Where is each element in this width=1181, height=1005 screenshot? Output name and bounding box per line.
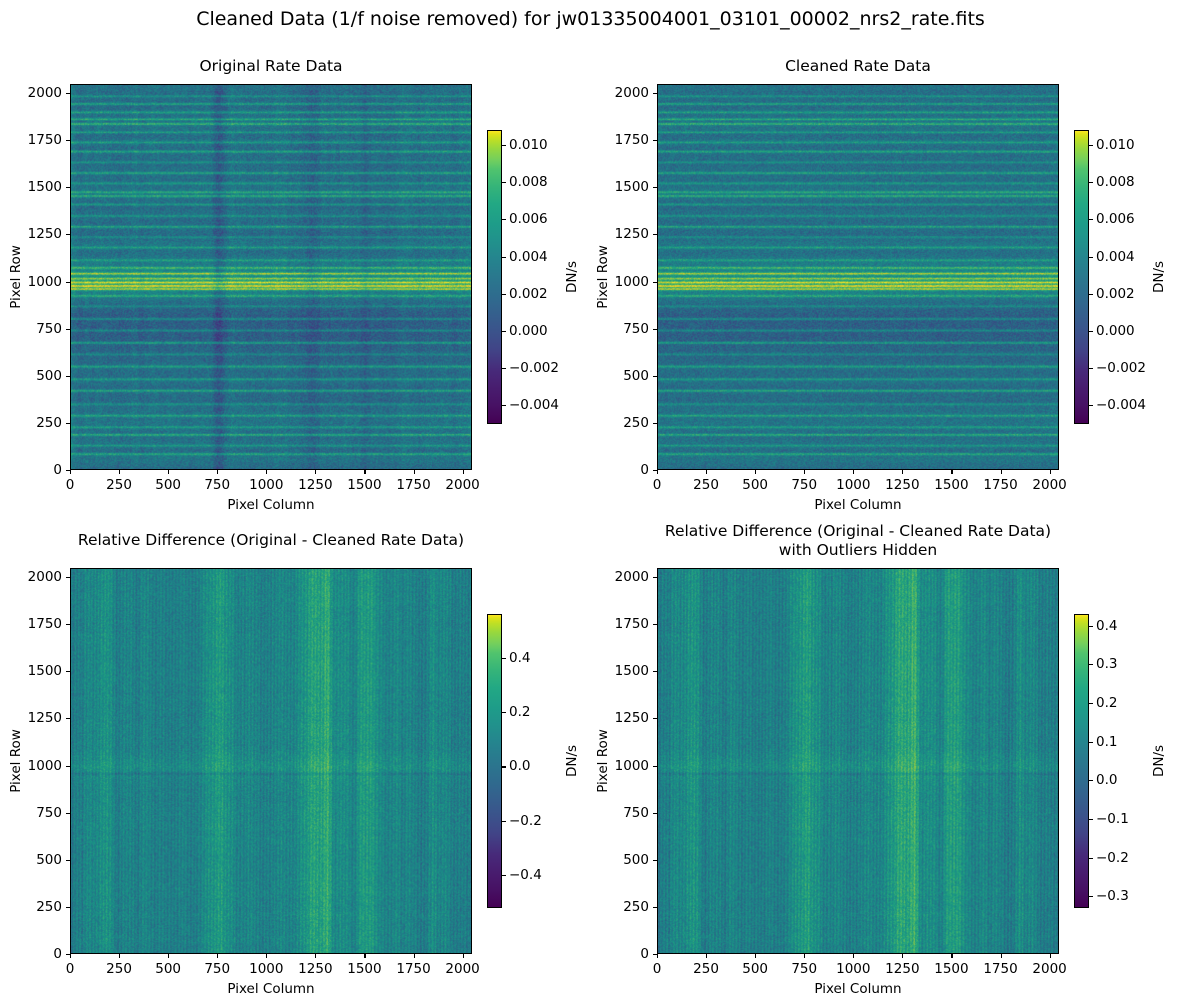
colorbar-tick-mark-1-1 [1089,182,1093,183]
ytick-mark-3-7 [653,624,657,625]
ytick-label-3-3: 750 [605,805,649,821]
xtick-label-3-8: 2000 [1032,961,1066,977]
colorbar-tick-label-0-1: 0.008 [509,174,548,190]
xtick-mark-3-8 [1050,954,1051,958]
ytick-label-1-1: 250 [605,415,649,431]
ytick-mark-0-5 [66,234,70,235]
colorbar-tick-label-3-3: 0.1 [1096,734,1117,750]
xtick-label-1-2: 500 [742,477,768,493]
heatmap-image-original [71,85,471,469]
colorbar-tick-mark-2-1 [502,712,506,713]
figure-suptitle: Cleaned Data (1/f noise removed) for jw0… [0,8,1181,30]
colorbar-tick-mark-3-1 [1089,664,1093,665]
colorbar-tick-label-1-5: 0.000 [1096,323,1135,339]
colorbar-tick-label-0-5: 0.000 [509,323,548,339]
ytick-mark-0-7 [66,140,70,141]
xtick-mark-0-7 [414,470,415,474]
panel-title-relative-difference: Relative Difference (Original - Cleaned … [40,531,502,550]
ytick-mark-2-1 [66,907,70,908]
colorbar-tick-mark-3-2 [1089,703,1093,704]
panel-title-original-rate-data: Original Rate Data [70,57,472,76]
xtick-label-3-4: 1000 [836,961,870,977]
xtick-label-3-6: 1500 [934,961,968,977]
yaxis-label-3: Pixel Row [595,729,611,793]
ytick-label-2-5: 1250 [18,710,62,726]
colorbar-tick-mark-3-4 [1089,780,1093,781]
ytick-mark-1-4 [653,282,657,283]
colorbar-tick-label-2-4: −0.4 [509,867,542,883]
colorbar-tick-label-0-4: 0.002 [509,286,548,302]
ytick-label-1-0: 0 [605,462,649,478]
ytick-label-3-4: 1000 [605,758,649,774]
xtick-label-0-0: 0 [66,477,75,493]
xtick-mark-0-0 [70,470,71,474]
colorbar-tick-mark-0-4 [502,294,506,295]
xtick-label-2-4: 1000 [249,961,283,977]
xtick-mark-0-2 [168,470,169,474]
xtick-label-2-5: 1250 [298,961,332,977]
xtick-mark-3-7 [1001,954,1002,958]
colorbar-tick-label-3-6: −0.2 [1096,850,1129,866]
xtick-label-2-8: 2000 [445,961,479,977]
xtick-label-0-4: 1000 [249,477,283,493]
ytick-label-2-0: 0 [18,946,62,962]
ytick-mark-2-6 [66,671,70,672]
panel-cleaned-rate-data[interactable] [657,84,1059,470]
colorbar-label-3: DN/s [1151,745,1167,777]
colorbar-label-0: DN/s [564,261,580,293]
colorbar-tick-mark-0-2 [502,219,506,220]
colorbar-tick-mark-3-3 [1089,742,1093,743]
xtick-mark-1-1 [706,470,707,474]
xtick-mark-1-7 [1001,470,1002,474]
colorbar-cleaned-rate-data[interactable] [1074,130,1089,424]
colorbar-tick-label-3-4: 0.0 [1096,772,1117,788]
xtick-mark-3-5 [902,954,903,958]
ytick-mark-3-5 [653,718,657,719]
ytick-mark-1-8 [653,93,657,94]
xtick-label-3-0: 0 [653,961,662,977]
colorbar-tick-label-3-0: 0.4 [1096,618,1117,634]
ytick-label-3-8: 2000 [605,569,649,585]
xtick-mark-2-4 [266,954,267,958]
colorbar-tick-label-3-2: 0.2 [1096,695,1117,711]
xtick-mark-2-5 [315,954,316,958]
xtick-mark-1-0 [657,470,658,474]
colorbar-tick-mark-0-6 [502,368,506,369]
colorbar-tick-label-0-0: 0.010 [509,137,548,153]
ytick-mark-2-7 [66,624,70,625]
yaxis-label-1: Pixel Row [595,245,611,309]
heatmap-image-cleaned [658,85,1058,469]
xtick-label-0-1: 250 [106,477,132,493]
ytick-mark-1-2 [653,376,657,377]
colorbar-tick-label-1-1: 0.008 [1096,174,1135,190]
xtick-label-0-2: 500 [155,477,181,493]
xtick-mark-2-3 [217,954,218,958]
ytick-label-0-1: 250 [18,415,62,431]
colorbar-tick-label-2-1: 0.2 [509,704,530,720]
xtick-mark-3-1 [706,954,707,958]
colorbar-tick-label-3-7: −0.3 [1096,888,1129,904]
ytick-mark-2-4 [66,766,70,767]
ytick-label-2-8: 2000 [18,569,62,585]
ytick-label-1-2: 500 [605,368,649,384]
panel-relative-difference-outliers-hidden[interactable] [657,568,1059,954]
xtick-label-1-0: 0 [653,477,662,493]
xtick-mark-2-6 [364,954,365,958]
xtick-label-3-3: 750 [791,961,817,977]
colorbar-tick-label-2-2: 0.0 [509,758,530,774]
ytick-label-3-2: 500 [605,852,649,868]
ytick-mark-1-6 [653,187,657,188]
colorbar-tick-label-2-0: 0.4 [509,650,530,666]
colorbar-tick-mark-1-3 [1089,257,1093,258]
yaxis-label-0: Pixel Row [8,245,24,309]
xtick-label-2-7: 1750 [396,961,430,977]
colorbar-tick-mark-2-4 [502,875,506,876]
xtick-mark-0-3 [217,470,218,474]
xtick-mark-2-0 [70,954,71,958]
colorbar-tick-mark-2-3 [502,821,506,822]
colorbar-tick-label-0-6: −0.002 [509,360,559,376]
xtick-label-2-0: 0 [66,961,75,977]
ytick-mark-1-1 [653,423,657,424]
xtick-mark-0-6 [364,470,365,474]
xaxis-label-3: Pixel Column [814,981,901,997]
xtick-mark-0-8 [463,470,464,474]
ytick-label-3-0: 0 [605,946,649,962]
colorbar-tick-mark-0-7 [502,405,506,406]
colorbar-tick-mark-0-0 [502,145,506,146]
ytick-label-2-3: 750 [18,805,62,821]
xtick-label-1-6: 1500 [934,477,968,493]
ytick-mark-3-4 [653,766,657,767]
xtick-label-1-7: 1750 [983,477,1017,493]
colorbar-tick-mark-1-5 [1089,331,1093,332]
panel-title-cleaned-rate-data: Cleaned Rate Data [657,57,1059,76]
ytick-mark-0-1 [66,423,70,424]
xtick-mark-3-3 [804,954,805,958]
xtick-label-2-6: 1500 [347,961,381,977]
colorbar-tick-mark-1-0 [1089,145,1093,146]
colorbar-relative-difference-outliers-hidden[interactable] [1074,614,1089,908]
xtick-label-1-8: 2000 [1032,477,1066,493]
heatmap-image-difference [71,569,471,953]
colorbar-original-rate-data[interactable] [487,130,502,424]
xtick-label-1-3: 750 [791,477,817,493]
ytick-mark-1-3 [653,329,657,330]
colorbar-tick-mark-0-1 [502,182,506,183]
ytick-mark-1-7 [653,140,657,141]
colorbar-tick-mark-1-4 [1089,294,1093,295]
xtick-mark-3-0 [657,954,658,958]
ytick-label-2-2: 500 [18,852,62,868]
colorbar-tick-label-3-1: 0.3 [1096,656,1117,672]
ytick-label-0-4: 1000 [18,274,62,290]
colorbar-tick-label-1-0: 0.010 [1096,137,1135,153]
colorbar-tick-label-0-2: 0.006 [509,211,548,227]
ytick-label-2-7: 1750 [18,616,62,632]
xtick-label-0-6: 1500 [347,477,381,493]
colorbar-tick-mark-0-3 [502,257,506,258]
colorbar-tick-label-1-2: 0.006 [1096,211,1135,227]
colorbar-tick-mark-1-2 [1089,219,1093,220]
ytick-label-0-5: 1250 [18,226,62,242]
panel-original-rate-data[interactable] [70,84,472,470]
ytick-label-1-8: 2000 [605,85,649,101]
ytick-label-1-6: 1500 [605,179,649,195]
ytick-label-1-7: 1750 [605,132,649,148]
ytick-mark-3-8 [653,577,657,578]
panel-relative-difference[interactable] [70,568,472,954]
xtick-mark-1-3 [804,470,805,474]
xaxis-label-2: Pixel Column [227,981,314,997]
colorbar-tick-label-1-3: 0.004 [1096,249,1135,265]
xtick-label-1-4: 1000 [836,477,870,493]
colorbar-tick-mark-0-5 [502,331,506,332]
xtick-mark-3-2 [755,954,756,958]
colorbar-tick-label-1-6: −0.002 [1096,360,1146,376]
xtick-mark-1-4 [853,470,854,474]
colorbar-relative-difference[interactable] [487,614,502,908]
colorbar-tick-mark-3-6 [1089,858,1093,859]
xtick-mark-0-5 [315,470,316,474]
figure-canvas: Cleaned Data (1/f noise removed) for jw0… [0,0,1181,1005]
ytick-label-0-3: 750 [18,321,62,337]
xaxis-label-1: Pixel Column [814,497,901,513]
ytick-label-3-7: 1750 [605,616,649,632]
xtick-label-0-5: 1250 [298,477,332,493]
xtick-label-3-1: 250 [693,961,719,977]
colorbar-label-1: DN/s [1151,261,1167,293]
colorbar-tick-label-0-7: −0.004 [509,397,559,413]
ytick-label-2-1: 250 [18,899,62,915]
ytick-label-0-6: 1500 [18,179,62,195]
xtick-mark-2-7 [414,954,415,958]
ytick-mark-3-1 [653,907,657,908]
colorbar-tick-mark-3-0 [1089,626,1093,627]
xtick-mark-2-8 [463,954,464,958]
ytick-mark-0-8 [66,93,70,94]
xtick-label-0-3: 750 [204,477,230,493]
colorbar-tick-mark-1-6 [1089,368,1093,369]
colorbar-tick-label-2-3: −0.2 [509,813,542,829]
xtick-label-0-7: 1750 [396,477,430,493]
xtick-mark-1-6 [951,470,952,474]
xtick-label-1-1: 250 [693,477,719,493]
ytick-label-1-5: 1250 [605,226,649,242]
xtick-mark-2-1 [119,954,120,958]
ytick-mark-2-2 [66,860,70,861]
heatmap-image-difference-masked [658,569,1058,953]
ytick-label-1-4: 1000 [605,274,649,290]
xtick-mark-2-2 [168,954,169,958]
colorbar-tick-mark-3-7 [1089,896,1093,897]
ytick-mark-0-6 [66,187,70,188]
xtick-label-1-5: 1250 [885,477,919,493]
ytick-label-0-8: 2000 [18,85,62,101]
yaxis-label-2: Pixel Row [8,729,24,793]
xtick-mark-0-4 [266,470,267,474]
ytick-label-2-6: 1500 [18,663,62,679]
ytick-label-0-2: 500 [18,368,62,384]
xtick-label-2-3: 750 [204,961,230,977]
xtick-label-2-1: 250 [106,961,132,977]
ytick-mark-1-5 [653,234,657,235]
xtick-label-2-2: 500 [155,961,181,977]
xtick-mark-3-6 [951,954,952,958]
ytick-mark-2-3 [66,813,70,814]
ytick-mark-3-6 [653,671,657,672]
colorbar-tick-label-1-4: 0.002 [1096,286,1135,302]
ytick-mark-2-8 [66,577,70,578]
colorbar-tick-label-1-7: −0.004 [1096,397,1146,413]
ytick-mark-2-5 [66,718,70,719]
colorbar-tick-mark-3-5 [1089,819,1093,820]
xtick-mark-3-4 [853,954,854,958]
ytick-label-3-6: 1500 [605,663,649,679]
colorbar-tick-mark-1-7 [1089,405,1093,406]
xtick-label-3-2: 500 [742,961,768,977]
ytick-label-0-0: 0 [18,462,62,478]
ytick-label-3-1: 250 [605,899,649,915]
ytick-mark-0-4 [66,282,70,283]
xtick-mark-1-5 [902,470,903,474]
xaxis-label-0: Pixel Column [227,497,314,513]
colorbar-tick-mark-2-0 [502,658,506,659]
ytick-mark-3-3 [653,813,657,814]
xtick-label-3-7: 1750 [983,961,1017,977]
ytick-label-3-5: 1250 [605,710,649,726]
colorbar-tick-mark-2-2 [502,766,506,767]
xtick-mark-1-8 [1050,470,1051,474]
colorbar-tick-label-0-3: 0.004 [509,249,548,265]
xtick-label-0-8: 2000 [445,477,479,493]
colorbar-tick-label-3-5: −0.1 [1096,811,1129,827]
ytick-label-2-4: 1000 [18,758,62,774]
ytick-label-1-3: 750 [605,321,649,337]
xtick-label-3-5: 1250 [885,961,919,977]
ytick-label-0-7: 1750 [18,132,62,148]
panel-title-relative-difference-outliers-hidden-line2: with Outliers Hidden [627,541,1089,560]
colorbar-label-2: DN/s [564,745,580,777]
xtick-mark-1-2 [755,470,756,474]
panel-title-relative-difference-outliers-hidden-line1: Relative Difference (Original - Cleaned … [627,522,1089,541]
ytick-mark-3-2 [653,860,657,861]
ytick-mark-0-3 [66,329,70,330]
ytick-mark-0-2 [66,376,70,377]
xtick-mark-0-1 [119,470,120,474]
